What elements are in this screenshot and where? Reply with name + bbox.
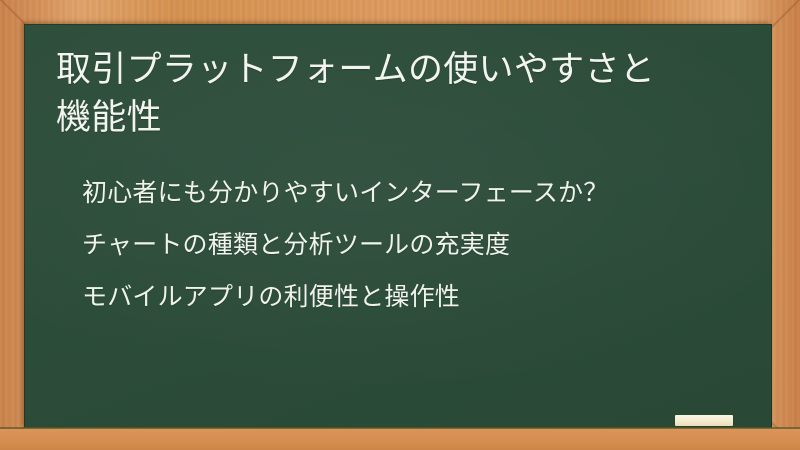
chalk-stick-icon [675, 415, 733, 426]
chalkboard-surface: 取引プラットフォームの使いやすさと 機能性 初心者にも分かりやすいインターフェー… [24, 24, 772, 428]
slide-title: 取引プラットフォームの使いやすさと 機能性 [56, 46, 746, 142]
bullet-item-1: 初心者にも分かりやすいインターフェースか？ [82, 179, 742, 207]
chalkboard-slide: 取引プラットフォームの使いやすさと 機能性 初心者にも分かりやすいインターフェー… [0, 0, 800, 450]
bullet-list: 初心者にも分かりやすいインターフェースか？ チャートの種類と分析ツールの充実度 … [82, 179, 742, 311]
bullet-item-3: モバイルアプリの利便性と操作性 [82, 283, 742, 311]
bullet-item-2: チャートの種類と分析ツールの充実度 [82, 231, 742, 259]
board-ledge [0, 429, 800, 450]
